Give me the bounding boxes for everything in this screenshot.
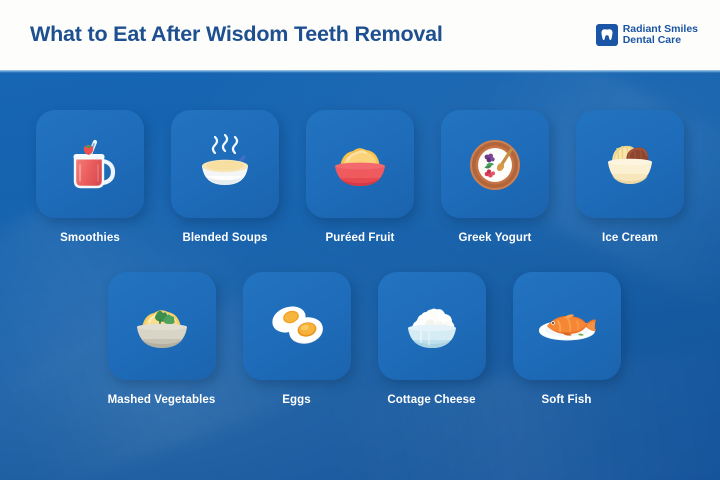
food-label: Smoothies — [60, 231, 120, 245]
brand-text: Radiant Smiles Dental Care — [623, 24, 698, 47]
food-item-smoothies[interactable]: Smoothies — [36, 110, 144, 245]
food-card[interactable] — [576, 110, 684, 218]
food-label: Puréed Fruit — [326, 231, 395, 245]
boiled-eggs-icon — [264, 293, 330, 359]
food-card[interactable] — [171, 110, 279, 218]
food-card[interactable] — [243, 272, 351, 380]
cottage-cheese-bowl-icon — [399, 293, 465, 359]
food-row-1: Smoothies — [0, 110, 720, 245]
food-item-blended-soups[interactable]: Blended Soups — [171, 110, 279, 245]
food-label: Ice Cream — [602, 231, 658, 245]
fruit-bowl-icon — [327, 131, 393, 197]
page-title: What to Eat After Wisdom Teeth Removal — [30, 24, 443, 46]
tooth-icon — [596, 24, 618, 46]
brand-line-2: Dental Care — [623, 35, 698, 46]
food-item-cottage-cheese[interactable]: Cottage Cheese — [378, 272, 486, 407]
food-card[interactable] — [378, 272, 486, 380]
smoothie-jar-icon — [57, 131, 123, 197]
food-item-ice-cream[interactable]: Ice Cream — [576, 110, 684, 245]
food-item-soft-fish[interactable]: Soft Fish — [513, 272, 621, 407]
food-label: Blended Soups — [182, 231, 267, 245]
food-label: Soft Fish — [541, 393, 591, 407]
fish-plate-icon — [534, 293, 600, 359]
food-card[interactable] — [36, 110, 144, 218]
food-row-2: Mashed Vegetables — [0, 272, 720, 407]
food-card[interactable] — [306, 110, 414, 218]
food-item-mashed-vegetables[interactable]: Mashed Vegetables — [108, 272, 216, 407]
food-card[interactable] — [513, 272, 621, 380]
food-item-pureed-fruit[interactable]: Puréed Fruit — [306, 110, 414, 245]
brand-logo: Radiant Smiles Dental Care — [596, 24, 698, 47]
food-grid: Smoothies — [0, 70, 720, 407]
food-label: Greek Yogurt — [459, 231, 532, 245]
food-card[interactable] — [108, 272, 216, 380]
yogurt-bowl-icon — [462, 131, 528, 197]
food-label: Cottage Cheese — [387, 393, 475, 407]
soup-bowl-icon — [192, 131, 258, 197]
content-panel: Smoothies — [0, 70, 720, 480]
food-label: Eggs — [282, 393, 311, 407]
header-bar: What to Eat After Wisdom Teeth Removal R… — [0, 0, 720, 70]
food-card[interactable] — [441, 110, 549, 218]
food-item-eggs[interactable]: Eggs — [243, 272, 351, 407]
mashed-vegetables-bowl-icon — [129, 293, 195, 359]
food-label: Mashed Vegetables — [108, 393, 216, 407]
ice-cream-cup-icon — [597, 131, 663, 197]
food-item-greek-yogurt[interactable]: Greek Yogurt — [441, 110, 549, 245]
infographic-root: What to Eat After Wisdom Teeth Removal R… — [0, 0, 720, 480]
